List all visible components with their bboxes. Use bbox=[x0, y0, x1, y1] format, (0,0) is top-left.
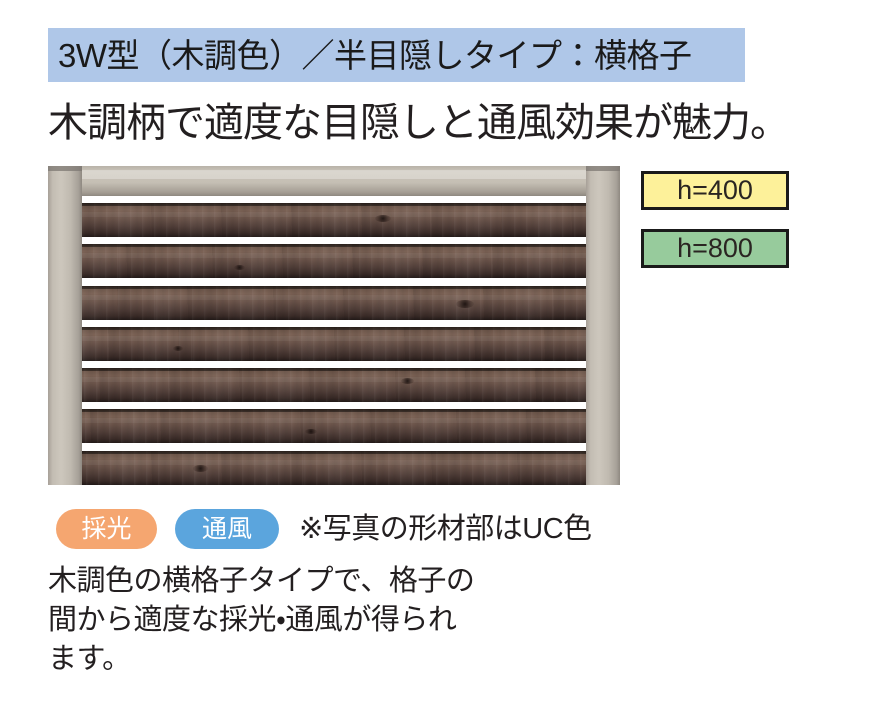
fence-slat-grain bbox=[82, 244, 588, 278]
fence-slat-highlight bbox=[82, 253, 588, 258]
fence-top-rail-highlight bbox=[78, 170, 598, 179]
fence-slat-shadow bbox=[82, 409, 588, 412]
fence-slat-knot bbox=[234, 265, 245, 270]
fence-slat bbox=[82, 203, 588, 237]
fence-slat-highlight bbox=[82, 336, 588, 341]
fence-slat bbox=[82, 244, 588, 278]
fence-slat-shadow bbox=[82, 286, 588, 289]
feature-pill-ventilation: 通風 bbox=[175, 509, 279, 549]
height-badge-400: h=400 bbox=[641, 171, 789, 210]
body-copy: 木調色の横格子タイプで、格子の 間から適度な採光・通風が得られ ます。 bbox=[48, 562, 688, 679]
header-banner-title: 3W型（木調色）／半目隠しタイプ：横格子 bbox=[48, 39, 692, 72]
fence-slat-knot bbox=[173, 346, 183, 351]
height-badge-400-label: h=400 bbox=[677, 177, 753, 204]
feature-pill-ventilation-label: 通風 bbox=[202, 517, 252, 542]
height-badge-800: h=800 bbox=[641, 229, 789, 268]
fence-slat bbox=[82, 327, 588, 361]
photo-note: ※写真の形材部はUC色 bbox=[299, 515, 592, 544]
fence-slat-grain bbox=[82, 286, 588, 320]
body-copy-line-2: 間から適度な採光・通風が得られ bbox=[48, 601, 688, 640]
feature-pill-daylight: 採光 bbox=[56, 509, 157, 549]
fence-post-left bbox=[48, 166, 82, 485]
fence-slat-grain bbox=[82, 203, 588, 237]
fence-top-rail bbox=[48, 166, 620, 196]
page-headline: 木調柄で適度な目隠しと通風効果が魅力。 bbox=[48, 97, 858, 149]
fence-slat-knot bbox=[305, 429, 317, 434]
fence-slat-highlight bbox=[82, 295, 588, 300]
fence-slat-highlight bbox=[82, 418, 588, 423]
height-badge-800-label: h=800 bbox=[677, 235, 753, 262]
fence-slat-highlight bbox=[82, 377, 588, 382]
body-copy-line-1: 木調色の横格子タイプで、格子の bbox=[48, 562, 688, 601]
fence-slat-grain bbox=[82, 451, 588, 485]
fence-slat-highlight bbox=[82, 212, 588, 217]
fence-slat-grain bbox=[82, 409, 588, 443]
product-spec-page: { "header": { "title": "3W型（木調色）／半目隠しタイプ… bbox=[0, 0, 872, 720]
fence-slat-shadow bbox=[82, 451, 588, 454]
fence-post-cap bbox=[586, 166, 620, 171]
feature-row: 採光 通風 ※写真の形材部はUC色 bbox=[56, 506, 592, 552]
fence-slat-shadow bbox=[82, 244, 588, 247]
fence-slat-grain bbox=[82, 368, 588, 402]
fence-slat-shadow bbox=[82, 203, 588, 206]
product-photo bbox=[48, 166, 620, 485]
fence-slat-shadow bbox=[82, 368, 588, 371]
fence-slat-group bbox=[82, 196, 588, 485]
fence-slat bbox=[82, 451, 588, 485]
fence-slat-shadow bbox=[82, 327, 588, 330]
body-copy-line-3: ます。 bbox=[48, 640, 688, 679]
header-banner: 3W型（木調色）／半目隠しタイプ：横格子 bbox=[48, 28, 745, 82]
fence-slat-highlight bbox=[82, 460, 588, 465]
feature-pill-daylight-label: 採光 bbox=[81, 517, 131, 542]
fence-slat-grain bbox=[82, 327, 588, 361]
fence-slat-knot bbox=[193, 465, 208, 472]
fence-slat bbox=[82, 409, 588, 443]
fence-slat bbox=[82, 368, 588, 402]
fence-post-cap bbox=[48, 166, 82, 171]
fence-post-right bbox=[586, 166, 620, 485]
fence-slat bbox=[82, 286, 588, 320]
